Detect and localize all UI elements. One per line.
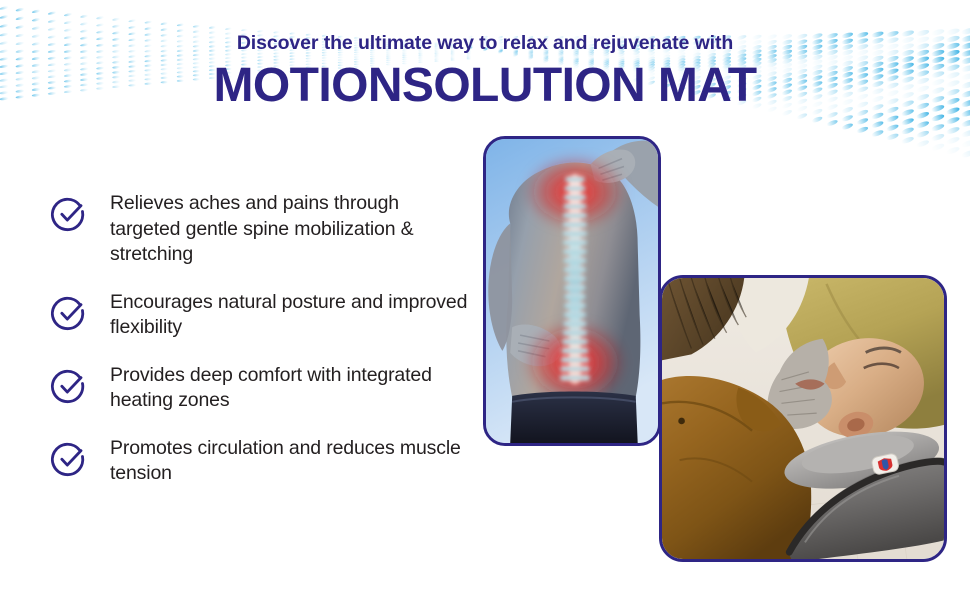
benefit-text: Provides deep comfort with integrated he…: [110, 362, 470, 414]
header-title: MOTIONSOLUTION MAT: [0, 58, 970, 114]
check-circle-icon: [50, 294, 88, 332]
man-lying-on-massage-mat-photo: [659, 275, 947, 562]
benefit-text: Encourages natural posture and improved …: [110, 289, 470, 341]
check-circle-icon: [50, 367, 88, 405]
header-subtitle: Discover the ultimate way to relax and r…: [0, 30, 970, 56]
header-block: Discover the ultimate way to relax and r…: [0, 30, 970, 114]
benefit-item: Relieves aches and pains through targete…: [50, 190, 470, 268]
check-circle-icon: [50, 195, 88, 233]
benefit-text: Relieves aches and pains through targete…: [110, 190, 470, 268]
back-pain-spine-photo: [483, 136, 661, 446]
promo-banner: Discover the ultimate way to relax and r…: [0, 0, 970, 600]
benefits-list: Relieves aches and pains through targete…: [50, 190, 470, 487]
benefit-item: Provides deep comfort with integrated he…: [50, 362, 470, 414]
benefit-item: Promotes circulation and reduces muscle …: [50, 435, 470, 487]
benefit-item: Encourages natural posture and improved …: [50, 289, 470, 341]
check-circle-icon: [50, 440, 88, 478]
benefit-text: Promotes circulation and reduces muscle …: [110, 435, 470, 487]
